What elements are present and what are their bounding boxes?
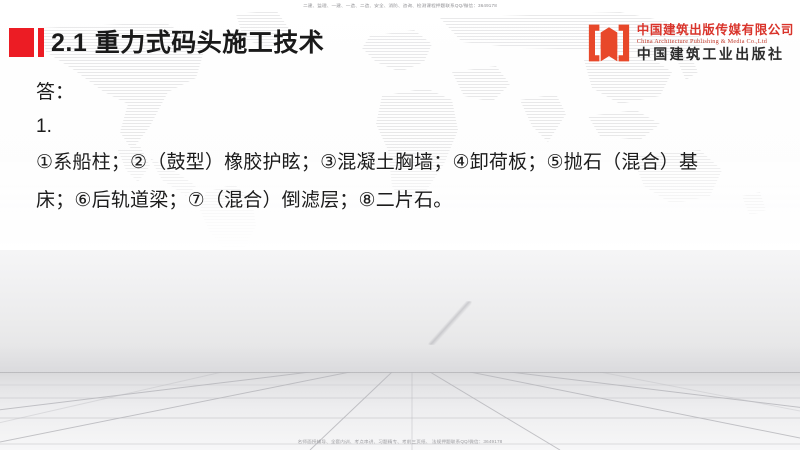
publisher-logo: 中国建筑出版传媒有限公司 China Architecture Publishi… — [587, 22, 794, 64]
answer-label: 答： — [36, 76, 766, 110]
top-watermark-text: 二建、监理、一建、一造、二造、安全、消防、咨询、检测课程押题联系QQ/微信：36… — [0, 3, 800, 9]
bottom-watermark-text: 名师面授辅导、全套内训、考点串讲、习题精专、考前三页纸、 法规押题联系QQ/微信… — [0, 439, 800, 445]
item-number: 1. — [36, 110, 766, 144]
logo-company-cn: 中国建筑出版传媒有限公司 — [637, 24, 794, 37]
wall-floor-shadow — [0, 346, 800, 372]
page-title: 2.1 重力式码头施工技术 — [51, 25, 324, 61]
answer-line-2: 床；⑥后轨道梁；⑦（混合）倒滤层；⑧二片石。 — [36, 182, 766, 220]
logo-imprint-cn: 中国建筑工业出版社 — [637, 48, 794, 62]
answer-line-1: ①系船柱；②（鼓型）橡胶护眩；③混凝土胸墙；④卸荷板；⑤抛石（混合）基 — [36, 144, 766, 182]
open-book-building-logo-icon — [587, 22, 631, 64]
header-accent-bar — [38, 28, 44, 57]
slide-canvas: 二建、监理、一建、一造、二造、安全、消防、咨询、检测课程押题联系QQ/微信：36… — [0, 0, 800, 450]
slide-body: 答： 1. ①系船柱；②（鼓型）橡胶护眩；③混凝土胸墙；④卸荷板；⑤抛石（混合）… — [36, 76, 766, 220]
logo-company-en: China Architecture Publishing & Media Co… — [637, 39, 794, 45]
light-streak — [428, 299, 471, 348]
header-accent-block — [9, 28, 34, 57]
